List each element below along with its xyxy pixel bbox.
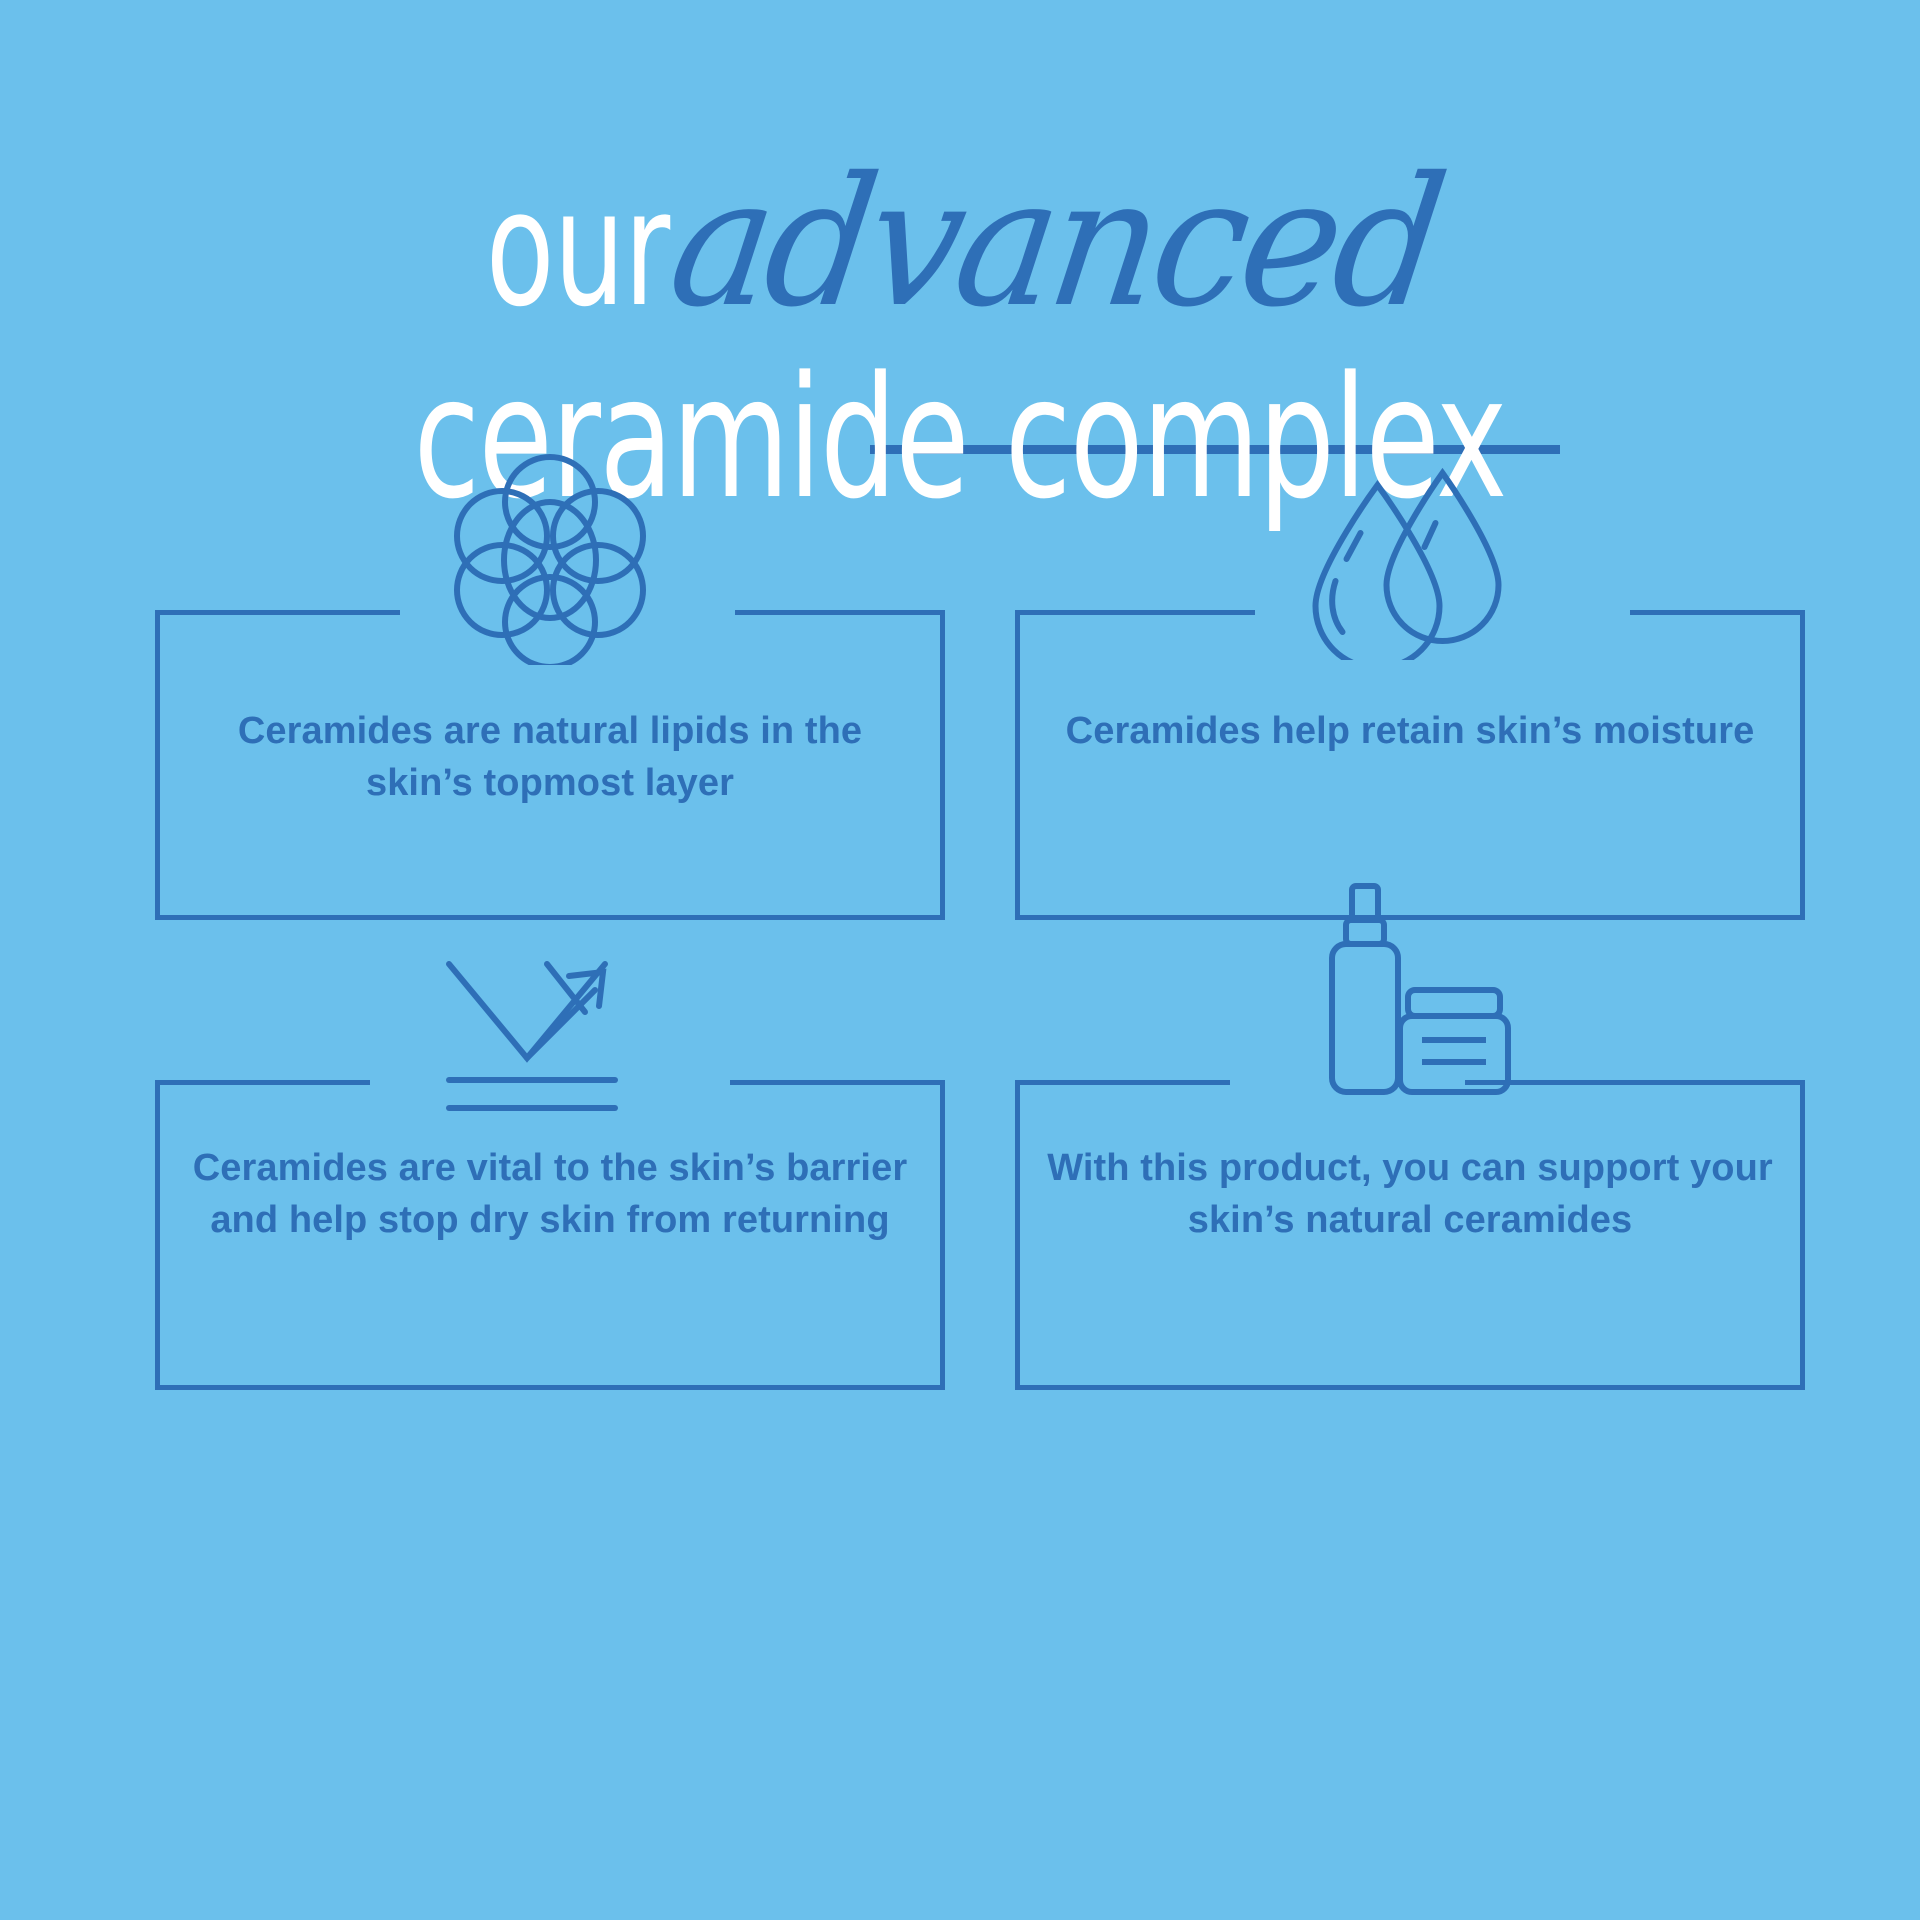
water-droplets-icon bbox=[1303, 455, 1518, 660]
card-border-top-left bbox=[155, 610, 400, 615]
card-border-top-right bbox=[730, 1080, 945, 1085]
title-word-advanced: advanced bbox=[661, 150, 1451, 335]
skin-barrier-arrow-icon bbox=[435, 950, 665, 1125]
card-border-bottom bbox=[1015, 1385, 1805, 1390]
lipid-cluster-icon bbox=[440, 450, 660, 665]
card-border-top-left bbox=[155, 1080, 370, 1085]
benefit-card-lipids: Ceramides are natural lipids in the skin… bbox=[155, 610, 945, 920]
benefit-card-product: With this product, you can support your … bbox=[1015, 1080, 1805, 1390]
card-text: Ceramides are natural lipids in the skin… bbox=[155, 705, 945, 809]
page-title: ouradvanced ceramide complex bbox=[0, 150, 1920, 335]
card-border-top-left bbox=[1015, 610, 1255, 615]
card-text: Ceramides are vital to the skin’s barrie… bbox=[155, 1142, 945, 1246]
card-text: Ceramides help retain skin’s moisture bbox=[1015, 705, 1805, 757]
card-border-left bbox=[1015, 610, 1020, 920]
benefit-card-barrier: Ceramides are vital to the skin’s barrie… bbox=[155, 1080, 945, 1390]
benefit-card-moisture: Ceramides help retain skin’s moisture bbox=[1015, 610, 1805, 920]
benefits-grid: Ceramides are natural lipids in the skin… bbox=[155, 610, 1805, 1460]
card-border-bottom bbox=[155, 1385, 945, 1390]
card-border-bottom bbox=[155, 915, 945, 920]
title-line-two: ceramide complex bbox=[0, 340, 1920, 536]
card-border-top-right bbox=[1630, 610, 1805, 615]
title-line-one: ouradvanced bbox=[0, 150, 1920, 335]
card-border-right bbox=[1800, 610, 1805, 920]
product-bottle-jar-icon bbox=[1290, 880, 1530, 1130]
title-word-our: our bbox=[486, 156, 670, 341]
card-border-top-right bbox=[735, 610, 945, 615]
card-text: With this product, you can support your … bbox=[1015, 1142, 1805, 1246]
card-border-top-left bbox=[1015, 1080, 1230, 1085]
